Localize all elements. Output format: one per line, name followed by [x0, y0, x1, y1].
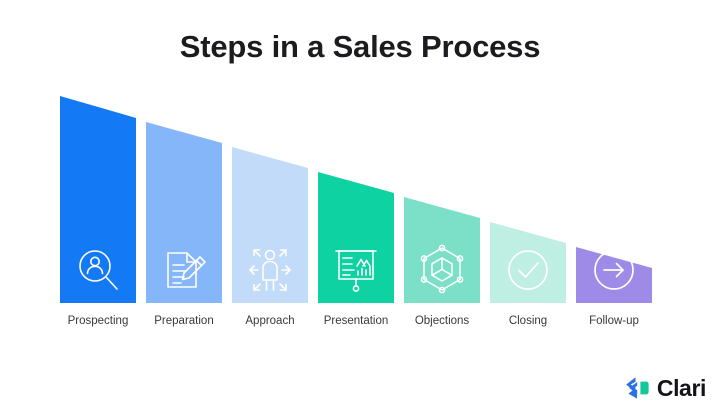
check-circle-icon — [502, 244, 554, 296]
step-label-preparation: Preparation — [136, 313, 232, 330]
magnifier-person-icon — [72, 244, 124, 296]
presentation-chart-icon — [330, 244, 382, 296]
funnel-step-prospecting[interactable] — [60, 90, 136, 310]
clari-logo: Clari — [624, 374, 706, 402]
page-title: Steps in a Sales Process — [0, 28, 720, 66]
step-label-presentation: Presentation — [308, 313, 404, 330]
clari-wordmark: Clari — [657, 376, 706, 400]
sales-process-infographic: Steps in a Sales Process — [0, 0, 720, 416]
step-label-prospecting: Prospecting — [50, 313, 146, 330]
step-label-follow-up: Follow-up — [566, 313, 662, 330]
step-label-closing: Closing — [480, 313, 576, 330]
funnel-step-preparation[interactable] — [146, 90, 222, 310]
step-labels: Prospecting Preparation Approach Present… — [0, 313, 720, 333]
document-pencil-icon — [158, 244, 210, 296]
funnel-step-presentation[interactable] — [318, 90, 394, 310]
funnel-step-approach[interactable] — [232, 90, 308, 310]
funnel-step-closing[interactable] — [490, 90, 566, 310]
funnel-step-follow-up[interactable] — [576, 90, 652, 310]
funnel-chart — [0, 90, 720, 310]
clari-logo-mark — [624, 376, 650, 400]
cube-network-icon — [416, 244, 468, 296]
funnel-step-objections[interactable] — [404, 90, 480, 310]
arrow-right-circle-icon — [588, 244, 640, 296]
person-arrows-icon — [244, 244, 296, 296]
step-label-approach: Approach — [222, 313, 318, 330]
step-label-objections: Objections — [394, 313, 490, 330]
